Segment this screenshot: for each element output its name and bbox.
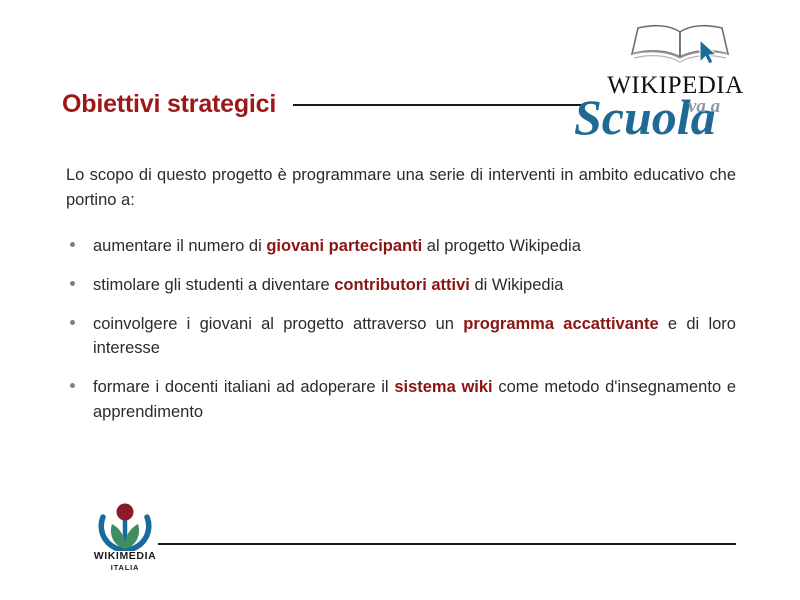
bullet-highlight: programma accattivante [463, 315, 658, 333]
page-title: Obiettivi strategici [62, 92, 276, 117]
footer-divider [158, 543, 736, 545]
wikimedia-italia-label: ITALIA [83, 564, 167, 572]
bullet-dot-icon [70, 383, 75, 388]
title-divider [293, 104, 582, 106]
svg-text:va a: va a [688, 96, 721, 117]
bullet-text-pre: coinvolgere i giovani al progetto attrav… [93, 315, 463, 333]
wikimedia-mark-icon [97, 503, 153, 551]
bullet-highlight: sistema wiki [394, 378, 492, 396]
va-a-script-text: va a [686, 94, 756, 118]
objectives-list: aumentare il numero di giovani partecipa… [66, 234, 736, 425]
list-item: stimolare gli studenti a diventare contr… [66, 273, 736, 298]
slide-title-row: Obiettivi strategici [62, 86, 582, 122]
bullet-highlight: giovani partecipanti [266, 237, 422, 255]
bullet-text-pre: formare i docenti italiani ad adoperare … [93, 378, 394, 396]
bullet-dot-icon [70, 242, 75, 247]
wikimedia-label: WIKIMEDIA [83, 551, 167, 563]
bullet-text-pre: aumentare il numero di [93, 237, 266, 255]
bullet-text-post: di Wikipedia [470, 276, 564, 294]
list-item: aumentare il numero di giovani partecipa… [66, 234, 736, 259]
list-item: formare i docenti italiani ad adoperare … [66, 375, 736, 425]
bullet-dot-icon [70, 320, 75, 325]
wikipedia-va-a-scuola-logo: Wikipedia Scuola va a [568, 22, 783, 148]
slide-canvas: Obiettivi strategici Wikipedia Scuola [0, 0, 800, 600]
bullet-highlight: contributori attivi [334, 276, 470, 294]
bullet-text-pre: stimolare gli studenti a diventare [93, 276, 334, 294]
bullet-text-post: al progetto Wikipedia [422, 237, 581, 255]
bullet-dot-icon [70, 281, 75, 286]
intro-paragraph: Lo scopo di questo progetto è programmar… [66, 163, 736, 213]
list-item: coinvolgere i giovani al progetto attrav… [66, 312, 736, 362]
open-book-icon [626, 22, 734, 66]
wikimedia-italia-logo: WIKIMEDIA ITALIA [83, 503, 167, 583]
